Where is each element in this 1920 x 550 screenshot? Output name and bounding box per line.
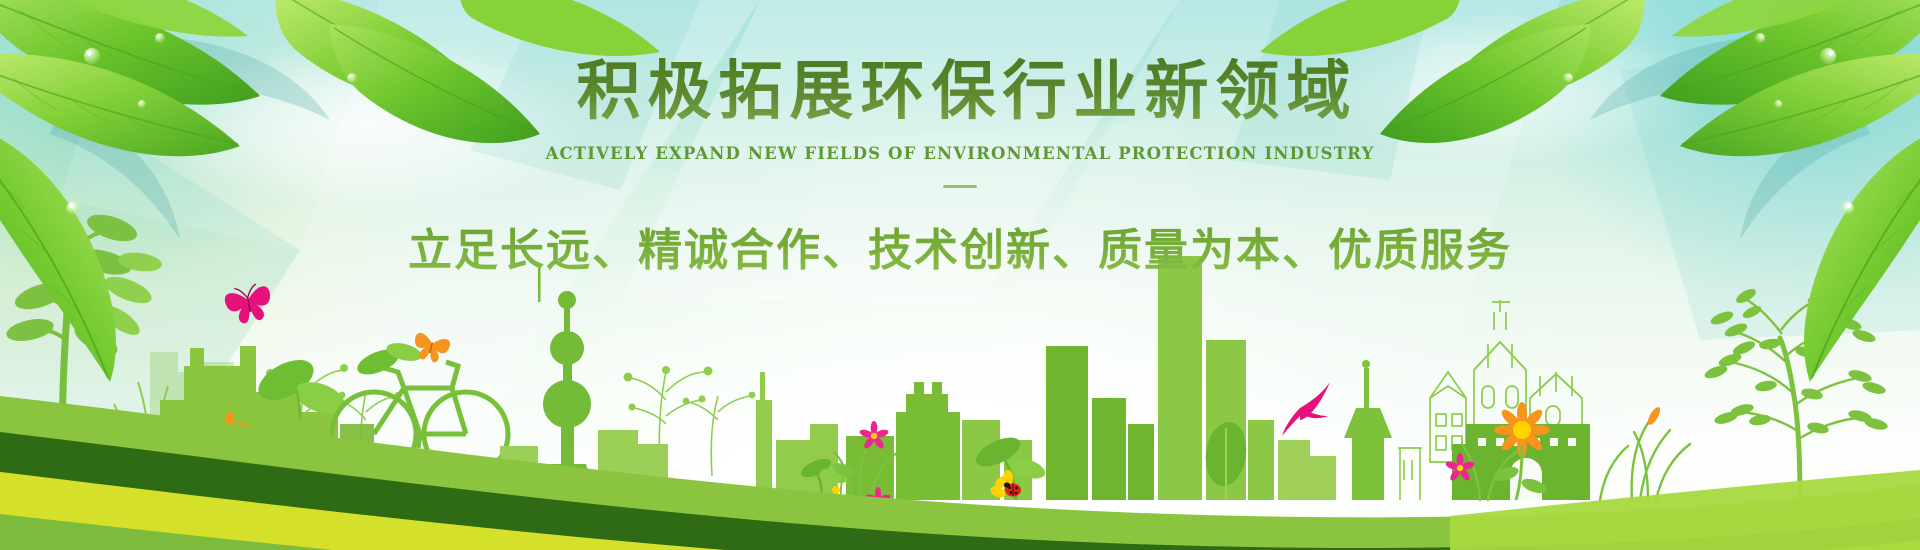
- eco-banner: 积极拓展环保行业新领域 ACTIVELY EXPAND NEW FIELDS O…: [0, 0, 1920, 550]
- leaf-cluster-icon: [1260, 0, 1920, 382]
- leaf-cluster-icon: [0, 0, 660, 382]
- leaves-layer: [0, 0, 1920, 550]
